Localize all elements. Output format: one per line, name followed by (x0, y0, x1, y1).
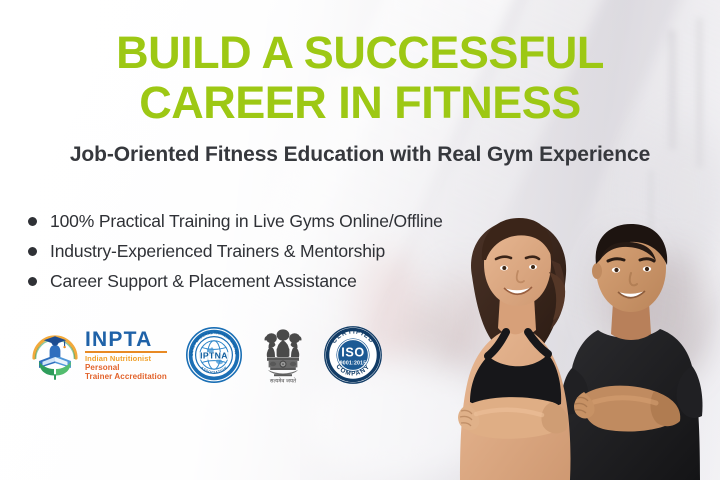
feature-list: 100% Practical Training in Live Gyms Onl… (28, 208, 443, 298)
female-trainer (458, 218, 571, 480)
headline: BUILD A SUCCESSFUL CAREER IN FITNESS (0, 28, 720, 128)
inpta-wordmark: INPTA Indian Nutritionist Personal Train… (85, 329, 167, 382)
list-item-label: 100% Practical Training in Live Gyms Onl… (50, 211, 443, 232)
bullet-dot-icon (28, 247, 37, 256)
list-item-label: Industry-Experienced Trainers & Mentorsh… (50, 241, 385, 262)
svg-text:9001:2015: 9001:2015 (340, 360, 367, 366)
graduation-cap-book-hands-icon (30, 328, 80, 382)
svg-text:सत्यमेव जयते: सत्यमेव जयते (270, 378, 297, 385)
inpta-subtitle-3: Trainer Accreditation (85, 373, 167, 381)
svg-text:ISO: ISO (341, 346, 365, 360)
accreditation-badge-row: INPTA Indian Nutritionist Personal Train… (30, 320, 383, 390)
badge-india-national-emblem-icon: सत्यमेव जयते (261, 324, 305, 386)
inpta-subtitle-2: Personal (85, 364, 167, 372)
list-item: 100% Practical Training in Live Gyms Onl… (28, 208, 443, 234)
fitness-course-banner: BUILD A SUCCESSFUL CAREER IN FITNESS Job… (0, 0, 720, 480)
bullet-dot-icon (28, 217, 37, 226)
headline-line-2: CAREER IN FITNESS (0, 78, 720, 128)
headline-line-1: BUILD A SUCCESSFUL (0, 28, 720, 78)
inpta-name: INPTA (85, 329, 167, 353)
badge-inpta: INPTA Indian Nutritionist Personal Train… (30, 328, 167, 382)
list-item: Career Support & Placement Assistance (28, 268, 443, 294)
trainers-photo (448, 180, 720, 480)
inpta-subtitle-1: Indian Nutritionist (85, 355, 167, 363)
male-trainer (561, 224, 703, 480)
bullet-dot-icon (28, 277, 37, 286)
subtitle: Job-Oriented Fitness Education with Real… (0, 143, 720, 167)
list-item-label: Career Support & Placement Assistance (50, 271, 357, 292)
svg-text:IPTNA: IPTNA (200, 350, 228, 360)
badge-iptna-globe-seal-icon: IPTNA INTERNATIONAL PERSONAL TRAINER AND… (185, 326, 243, 384)
badge-iso-certified-icon: ISO 9001:2015 CERTIFIED COMPANY (323, 325, 383, 385)
list-item: Industry-Experienced Trainers & Mentorsh… (28, 238, 443, 264)
